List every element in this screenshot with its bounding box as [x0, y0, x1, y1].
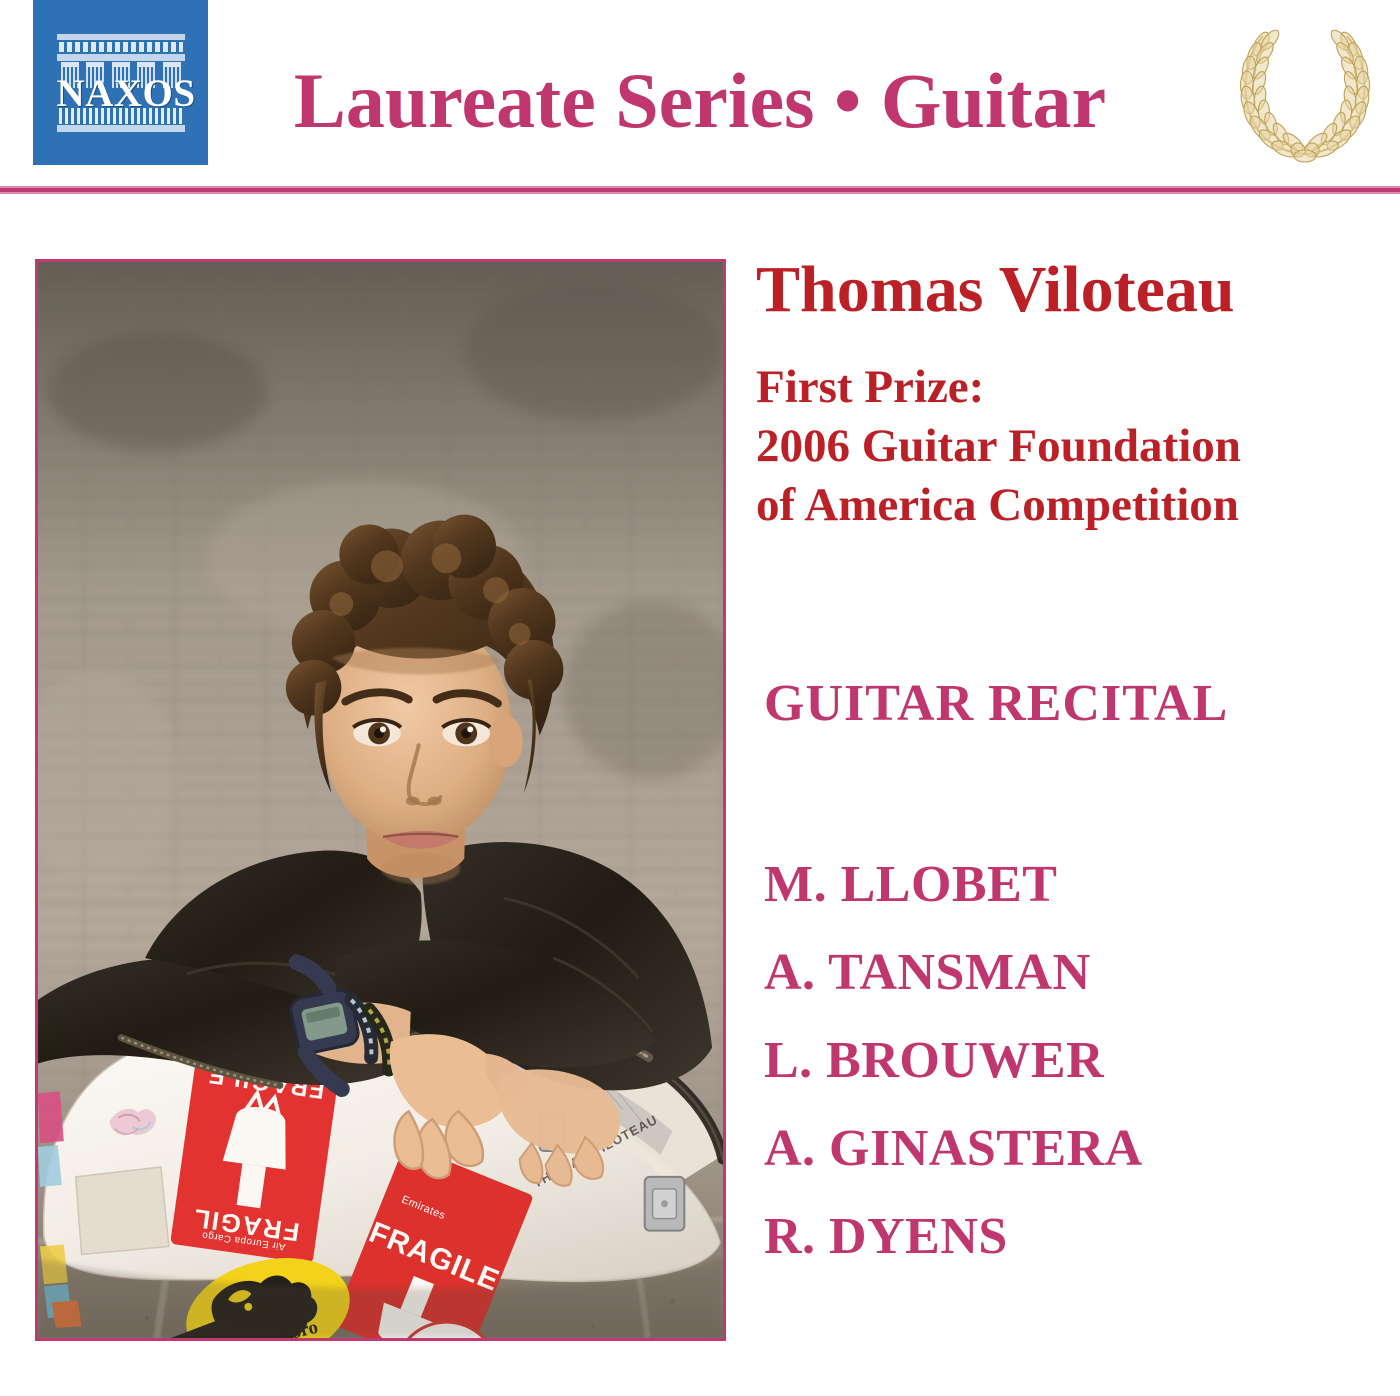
artist-name: Thomas Viloteau — [756, 252, 1376, 328]
composer-item: R. DYENS — [764, 1193, 1376, 1281]
composer-item: A. TANSMAN — [764, 929, 1376, 1017]
prize-line-2: 2006 Guitar Foundation — [756, 417, 1376, 476]
prize-line-3: of America Competition — [756, 476, 1376, 535]
artist-photo: THOMAS VILOTEAU FRAGIL — [35, 259, 726, 1341]
composer-item: M. LLOBET — [764, 841, 1376, 929]
prize-line-1: First Prize: — [756, 358, 1376, 417]
temple-entablature — [57, 34, 185, 40]
cover-header: NAXOS Laureate Series • Guitar — [0, 0, 1400, 186]
composer-item: L. BROUWER — [764, 1017, 1376, 1105]
temple-metopes — [59, 42, 183, 52]
composer-item: A. GINASTERA — [764, 1105, 1376, 1193]
info-panel: Thomas Viloteau First Prize: 2006 Guitar… — [756, 252, 1376, 1297]
composer-list: M. LLOBET A. TANSMAN L. BROUWER A. GINAS… — [764, 841, 1376, 1281]
header-divider-rule — [0, 186, 1400, 194]
recital-heading: GUITAR RECITAL — [764, 675, 1376, 733]
prize-block: First Prize: 2006 Guitar Foundation of A… — [756, 358, 1376, 535]
series-title: Laureate Series • Guitar — [0, 56, 1400, 146]
laurel-wreath-icon — [1235, 22, 1375, 167]
